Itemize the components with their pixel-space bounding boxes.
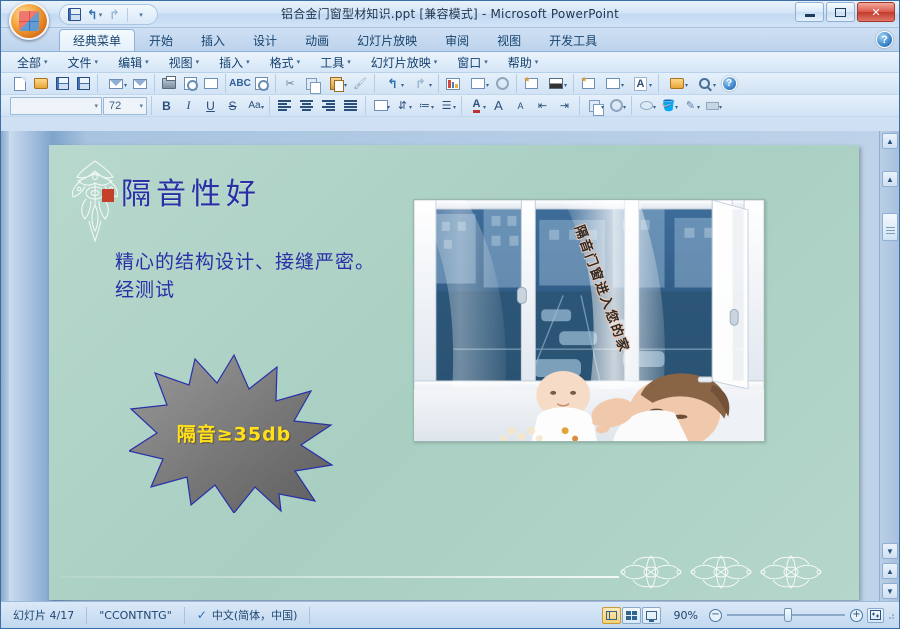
fill-color-icon: 🪣 — [662, 99, 676, 112]
work-area: 隔音性好 精心的结构设计、接缝严密。经测试 — [1, 131, 899, 601]
open-folder-icon — [34, 78, 48, 89]
chevron-down-icon: ▾ — [535, 58, 539, 66]
theme-name[interactable]: "CCONTNTG" — [87, 606, 184, 625]
chevron-down-icon: ▾ — [94, 102, 98, 110]
line-spacing-icon: ⇵ — [398, 99, 407, 112]
restore-icon — [835, 8, 846, 17]
change-case-button[interactable]: Aa▾ — [244, 96, 265, 115]
vertical-scrollbar[interactable]: ▲ ▲ ▼ ▲ ▼ — [879, 131, 899, 601]
shape-icon — [640, 101, 653, 110]
slide-sorter-icon — [626, 611, 637, 620]
align-justify-icon — [344, 100, 357, 111]
chevron-down-icon: ▾ — [653, 104, 656, 111]
fill-color-button[interactable]: 🪣▾ — [658, 96, 679, 115]
menu-insert-label: 插入 — [219, 54, 243, 71]
standard-toolbar: ▾ ABC ✂ ▾ 🖌 ↰▾ ↱▾ ▾ ▾ — [1, 73, 899, 95]
redo-button[interactable]: ↱▾ — [407, 74, 434, 93]
chevron-down-icon: ▾ — [344, 82, 347, 89]
chevron-down-icon: ▾ — [675, 104, 678, 111]
columns-button[interactable]: ▾ — [370, 96, 391, 115]
shadow-style-icon — [706, 102, 719, 110]
align-justify-button[interactable] — [340, 96, 361, 115]
starburst-label: 隔音≥35db — [129, 420, 339, 447]
chevron-down-icon: ▾ — [719, 104, 722, 111]
increase-indent-button[interactable]: ⇥ — [554, 96, 575, 115]
slide-baseline-rule — [59, 576, 619, 578]
zoom-thumb[interactable] — [784, 608, 792, 622]
line-spacing-button[interactable]: ⇵▾ — [392, 96, 413, 115]
wordart-button[interactable]: ▾ — [606, 96, 627, 115]
styles-icon — [589, 100, 600, 112]
zoom-track[interactable] — [727, 614, 845, 616]
design-button[interactable]: ▾ — [663, 74, 690, 93]
scroll-thumb[interactable] — [882, 213, 898, 241]
font-size-input[interactable]: 72 ▾ — [103, 97, 147, 115]
view-slide-sorter-button[interactable] — [622, 607, 641, 624]
font-name-input[interactable]: ▾ — [10, 97, 102, 115]
window-title: 铝合金门窗型材知识.ppt [兼容模式] - Microsoft PowerPo… — [1, 5, 899, 22]
status-bar: 幻灯片 4/17 "CCONTNTG" ✓ 中文(简体，中国) 90% − + — [1, 601, 899, 628]
new-slide-button[interactable] — [521, 74, 541, 93]
design-group: ▾ ▾ ? — [658, 74, 743, 93]
clipboard-group: ✂ ▾ 🖌 — [275, 74, 374, 93]
menu-window-label: 窗口 — [457, 54, 481, 71]
numbering-button[interactable]: ≔▾ — [414, 96, 435, 115]
chevron-down-icon: ▾ — [196, 58, 200, 66]
font-box-button[interactable]: A▾ — [627, 74, 654, 93]
font-size-color-group: A▾ A A ⇤ ⇥ — [461, 96, 579, 115]
scroll-prev-slide-button[interactable]: ▲ — [882, 171, 898, 187]
chevron-down-icon: ▾ — [297, 58, 301, 66]
proofing-group: ABC — [225, 74, 275, 93]
chevron-down-icon: ▾ — [484, 58, 488, 66]
font-size-value: 72 — [109, 100, 121, 112]
slide-body-text[interactable]: 精心的结构设计、接缝严密。经测试 — [115, 249, 383, 304]
help-button[interactable]: ? — [719, 74, 739, 93]
file-group — [6, 74, 97, 93]
font-color-button[interactable]: A▾ — [466, 96, 487, 115]
menu-edit-label: 编辑 — [118, 54, 142, 71]
shadow-style-button[interactable]: ▾ — [702, 96, 723, 115]
menu-tools-label: 工具 — [320, 54, 344, 71]
spelling-check-icon: ABC — [229, 78, 251, 89]
print-group — [154, 74, 225, 93]
history-group: ↰▾ ↱▾ — [374, 74, 438, 93]
zoom-button[interactable]: ▾ — [691, 74, 718, 93]
chevron-down-icon: ▾ — [246, 58, 250, 66]
new-document-button[interactable] — [10, 74, 30, 93]
fit-window-icon — [870, 610, 881, 620]
zoom-slider[interactable]: − + — [705, 609, 867, 622]
research-button[interactable] — [251, 74, 271, 93]
cut-button[interactable]: ✂ — [280, 74, 300, 93]
tab-design[interactable]: 设计 — [239, 29, 291, 51]
resize-grip-icon — [884, 609, 896, 621]
left-edge-strip — [1, 131, 9, 601]
tab-animation[interactable]: 动画 — [291, 29, 343, 51]
alignment-group — [269, 96, 365, 115]
align-center-icon — [300, 100, 313, 111]
scroll-prev-slide-button-2[interactable]: ▲ — [882, 563, 898, 579]
research-icon — [255, 77, 268, 90]
increase-indent-icon: ⇥ — [560, 99, 569, 112]
help-icon[interactable]: ? — [876, 31, 893, 48]
email-button[interactable]: ▾ — [102, 74, 129, 93]
cut-icon: ✂ — [285, 77, 294, 90]
chevron-down-icon: ▾ — [261, 104, 264, 111]
normal-view-icon — [606, 611, 617, 620]
slide-title[interactable]: 隔音性好 — [121, 169, 261, 213]
zoom-out-button[interactable]: − — [709, 609, 722, 622]
restore-button[interactable] — [826, 2, 855, 22]
slide-pane[interactable]: 隔音性好 精心的结构设计、接缝严密。经测试 — [9, 131, 879, 601]
tab-review[interactable]: 审阅 — [431, 29, 483, 51]
save-icon — [56, 77, 69, 90]
align-left-icon — [278, 100, 291, 111]
chevron-down-icon: ▾ — [145, 58, 149, 66]
align-right-button[interactable] — [318, 96, 339, 115]
line-color-button[interactable]: ✎▾ — [680, 96, 701, 115]
decrease-font-size-button[interactable]: A — [510, 96, 531, 115]
menu-view[interactable]: 视图▾ — [159, 53, 210, 71]
tab-slideshow[interactable]: 幻灯片放映 — [343, 29, 431, 51]
ornament-top-left-icon — [67, 159, 123, 247]
chevron-down-icon: ▾ — [95, 58, 99, 66]
menu-format[interactable]: 格式▾ — [260, 53, 311, 71]
menu-all-label: 全部 — [17, 54, 41, 71]
chevron-down-icon: ▾ — [601, 104, 604, 111]
language-indicator[interactable]: ✓ 中文(简体，中国) — [185, 606, 310, 625]
paste-icon — [330, 77, 342, 90]
resize-grip[interactable] — [884, 609, 896, 621]
slide-canvas[interactable]: 隔音性好 精心的结构设计、接缝严密。经测试 — [49, 145, 859, 600]
close-button[interactable]: ✕ — [857, 2, 895, 22]
tab-insert[interactable]: 插入 — [187, 29, 239, 51]
align-right-icon — [322, 100, 335, 111]
styles-button[interactable]: ▾ — [584, 96, 605, 115]
insert-chart-icon — [446, 78, 460, 90]
view-buttons — [596, 607, 667, 624]
expand-icon — [582, 78, 595, 89]
spelling-button[interactable]: ABC — [230, 74, 250, 93]
align-center-button[interactable] — [296, 96, 317, 115]
drawing-group: ▾ 🪣▾ ✎▾ ▾ — [631, 96, 727, 115]
scroll-down-button[interactable]: ▼ — [882, 543, 898, 559]
hyperlink-icon — [496, 77, 509, 90]
zoom-in-button[interactable]: + — [850, 609, 863, 622]
outline-icon — [606, 78, 620, 89]
slide-layout-button[interactable]: ▾ — [542, 74, 569, 93]
scroll-up-button[interactable]: ▲ — [882, 133, 898, 149]
hyperlink-button[interactable] — [492, 74, 512, 93]
slide-group: ▾ — [516, 74, 573, 93]
zoom-icon — [699, 78, 710, 89]
menu-insert[interactable]: 插入▾ — [209, 53, 260, 71]
decrease-indent-button[interactable]: ⇤ — [532, 96, 553, 115]
minimize-button[interactable] — [795, 2, 824, 22]
font-color-icon: A — [473, 99, 481, 113]
format-painter-button[interactable]: 🖌 — [350, 74, 370, 93]
line-color-icon: ✎ — [686, 99, 695, 112]
window-controls: ✕ — [795, 2, 895, 22]
italic-button[interactable]: I — [178, 96, 199, 115]
menu-format-label: 格式 — [270, 54, 294, 71]
starburst-shape[interactable]: 隔音≥35db — [129, 353, 339, 513]
typeface-group: B I U S Aa▾ — [151, 96, 269, 115]
menu-slideshow-label: 幻灯片放映 — [371, 54, 431, 71]
insert-chart-button[interactable] — [443, 74, 463, 93]
chevron-down-icon: ▾ — [434, 58, 438, 66]
chevron-down-icon: ▾ — [139, 102, 143, 110]
print-preview-button[interactable] — [180, 74, 200, 93]
save-button[interactable] — [52, 74, 72, 93]
change-case-icon: Aa — [248, 100, 260, 111]
chevron-down-icon: ▾ — [431, 104, 434, 111]
formatting-toolbar: ▾ 72 ▾ B I U S Aa▾ ▾ ⇵▾ ≔▾ ☰▾ A▾ — [1, 95, 899, 117]
columns-icon — [374, 100, 388, 111]
office-logo-icon — [19, 11, 39, 31]
title-bar: ↰▾ ↱ ▾ 铝合金门窗型材知识.ppt [兼容模式] - Microsoft … — [1, 1, 899, 28]
menu-help-label: 帮助 — [508, 54, 532, 71]
insert-table-button[interactable]: ▾ — [464, 74, 491, 93]
decrease-font-icon: A — [517, 101, 523, 111]
chevron-down-icon: ▾ — [486, 82, 489, 89]
chevron-down-icon: ▾ — [347, 58, 351, 66]
tab-view[interactable]: 视图 — [483, 29, 535, 51]
menu-view-label: 视图 — [169, 54, 193, 71]
spell-check-icon: ✓ — [197, 608, 207, 622]
outline-button[interactable]: ▾ — [599, 74, 626, 93]
chevron-down-icon: ▾ — [401, 82, 404, 89]
menu-file-label: 文件 — [68, 54, 92, 71]
language-label: 中文(简体，中国) — [212, 607, 298, 623]
underline-button[interactable]: U — [200, 96, 221, 115]
new-slide-icon — [525, 78, 538, 89]
chevron-down-icon: ▾ — [124, 82, 127, 89]
chevron-down-icon: ▾ — [44, 58, 48, 66]
paste-button[interactable]: ▾ — [322, 74, 349, 93]
chevron-down-icon: ▾ — [697, 104, 700, 111]
chevron-down-icon: ▾ — [649, 82, 652, 89]
slideshow-icon — [646, 611, 657, 620]
align-left-button[interactable] — [274, 96, 295, 115]
mail-group: ▾ — [97, 74, 154, 93]
wordart-icon — [610, 99, 623, 112]
chevron-down-icon: ▾ — [564, 82, 567, 89]
classic-menu-bar: 全部▾ 文件▾ 编辑▾ 视图▾ 插入▾ 格式▾ 工具▾ 幻灯片放映▾ 窗口▾ 帮… — [1, 52, 899, 73]
insert-objects-group: ▾ — [438, 74, 516, 93]
menu-edit[interactable]: 编辑▾ — [108, 53, 159, 71]
expand-all-button[interactable] — [578, 74, 598, 93]
copy-icon — [306, 78, 317, 90]
increase-font-size-button[interactable]: A — [488, 96, 509, 115]
styles-group: ▾ ▾ — [579, 96, 631, 115]
redo-icon: ↱ — [415, 77, 426, 90]
menu-tools[interactable]: 工具▾ — [310, 53, 361, 71]
undo-button[interactable]: ↰▾ — [379, 74, 406, 93]
menu-file[interactable]: 文件▾ — [58, 53, 109, 71]
chevron-down-icon: ▾ — [387, 104, 390, 111]
grid-button[interactable] — [201, 74, 221, 93]
office-button[interactable] — [9, 2, 49, 40]
title-bullet — [102, 189, 114, 202]
slide-layout-icon — [549, 78, 563, 89]
slide-counter[interactable]: 幻灯片 4/17 — [1, 606, 86, 625]
menu-slideshow[interactable]: 幻灯片放映▾ — [361, 53, 448, 71]
new-document-icon — [14, 77, 26, 91]
chevron-down-icon: ▾ — [429, 82, 432, 89]
print-preview-icon — [184, 77, 197, 90]
scroll-next-slide-button[interactable]: ▼ — [882, 583, 898, 599]
attach-icon — [133, 79, 147, 89]
bullets-icon: ☰ — [442, 99, 452, 112]
chevron-down-icon: ▾ — [685, 82, 688, 89]
chevron-down-icon: ▾ — [621, 82, 624, 89]
email-icon — [109, 79, 123, 89]
numbering-icon: ≔ — [419, 99, 430, 112]
view-normal-button[interactable] — [602, 607, 621, 624]
fit-to-window-button[interactable] — [867, 608, 884, 623]
tab-home[interactable]: 开始 — [135, 29, 187, 51]
chevron-down-icon: ▾ — [453, 104, 456, 111]
status-divider — [309, 607, 310, 624]
powerpoint-window: ↰▾ ↱ ▾ 铝合金门窗型材知识.ppt [兼容模式] - Microsoft … — [0, 0, 900, 629]
shadow-button[interactable]: S — [222, 96, 243, 115]
menu-all[interactable]: 全部▾ — [7, 53, 58, 71]
chevron-down-icon: ▾ — [623, 104, 626, 111]
open-button[interactable] — [31, 74, 51, 93]
slide-photo[interactable]: 隔音门窗进入您的家 — [413, 199, 765, 442]
font-group: ▾ 72 ▾ — [6, 97, 151, 115]
font-box-icon: A — [634, 77, 648, 91]
print-icon — [162, 78, 176, 89]
attach-button[interactable] — [130, 74, 150, 93]
save-as-icon — [77, 77, 90, 90]
bold-button[interactable]: B — [156, 96, 177, 115]
outline-group: ▾ A▾ — [573, 74, 658, 93]
bullets-button[interactable]: ☰▾ — [436, 96, 457, 115]
decrease-indent-icon: ⇤ — [538, 99, 547, 112]
view-slideshow-button[interactable] — [642, 607, 661, 624]
help-icon: ? — [722, 76, 737, 91]
ribbon-tab-strip: 经典菜单 开始 插入 设计 动画 幻灯片放映 审阅 视图 开发工具 ? — [1, 28, 899, 52]
tab-classic-menu[interactable]: 经典菜单 — [59, 29, 135, 51]
chevron-down-icon: ▾ — [713, 82, 716, 89]
table-icon — [204, 78, 218, 89]
save-as-button[interactable] — [73, 74, 93, 93]
insert-table-icon — [471, 78, 485, 89]
menu-window[interactable]: 窗口▾ — [447, 53, 498, 71]
menu-help[interactable]: 帮助▾ — [498, 53, 549, 71]
increase-font-icon: A — [494, 98, 503, 113]
paragraph-group: ▾ ⇵▾ ≔▾ ☰▾ — [365, 96, 461, 115]
minimize-icon — [805, 14, 815, 17]
chevron-down-icon: ▾ — [483, 104, 486, 111]
print-button[interactable] — [159, 74, 179, 93]
tab-developer[interactable]: 开发工具 — [535, 29, 611, 51]
design-icon — [670, 78, 684, 89]
copy-button[interactable] — [301, 74, 321, 93]
chevron-down-icon: ▾ — [409, 104, 412, 111]
ornament-bottom-right-icon — [611, 550, 851, 594]
shape-button[interactable]: ▾ — [636, 96, 657, 115]
format-painter-icon: 🖌 — [353, 77, 367, 90]
undo-icon: ↰ — [387, 77, 398, 90]
zoom-level-label[interactable]: 90% — [667, 609, 705, 622]
